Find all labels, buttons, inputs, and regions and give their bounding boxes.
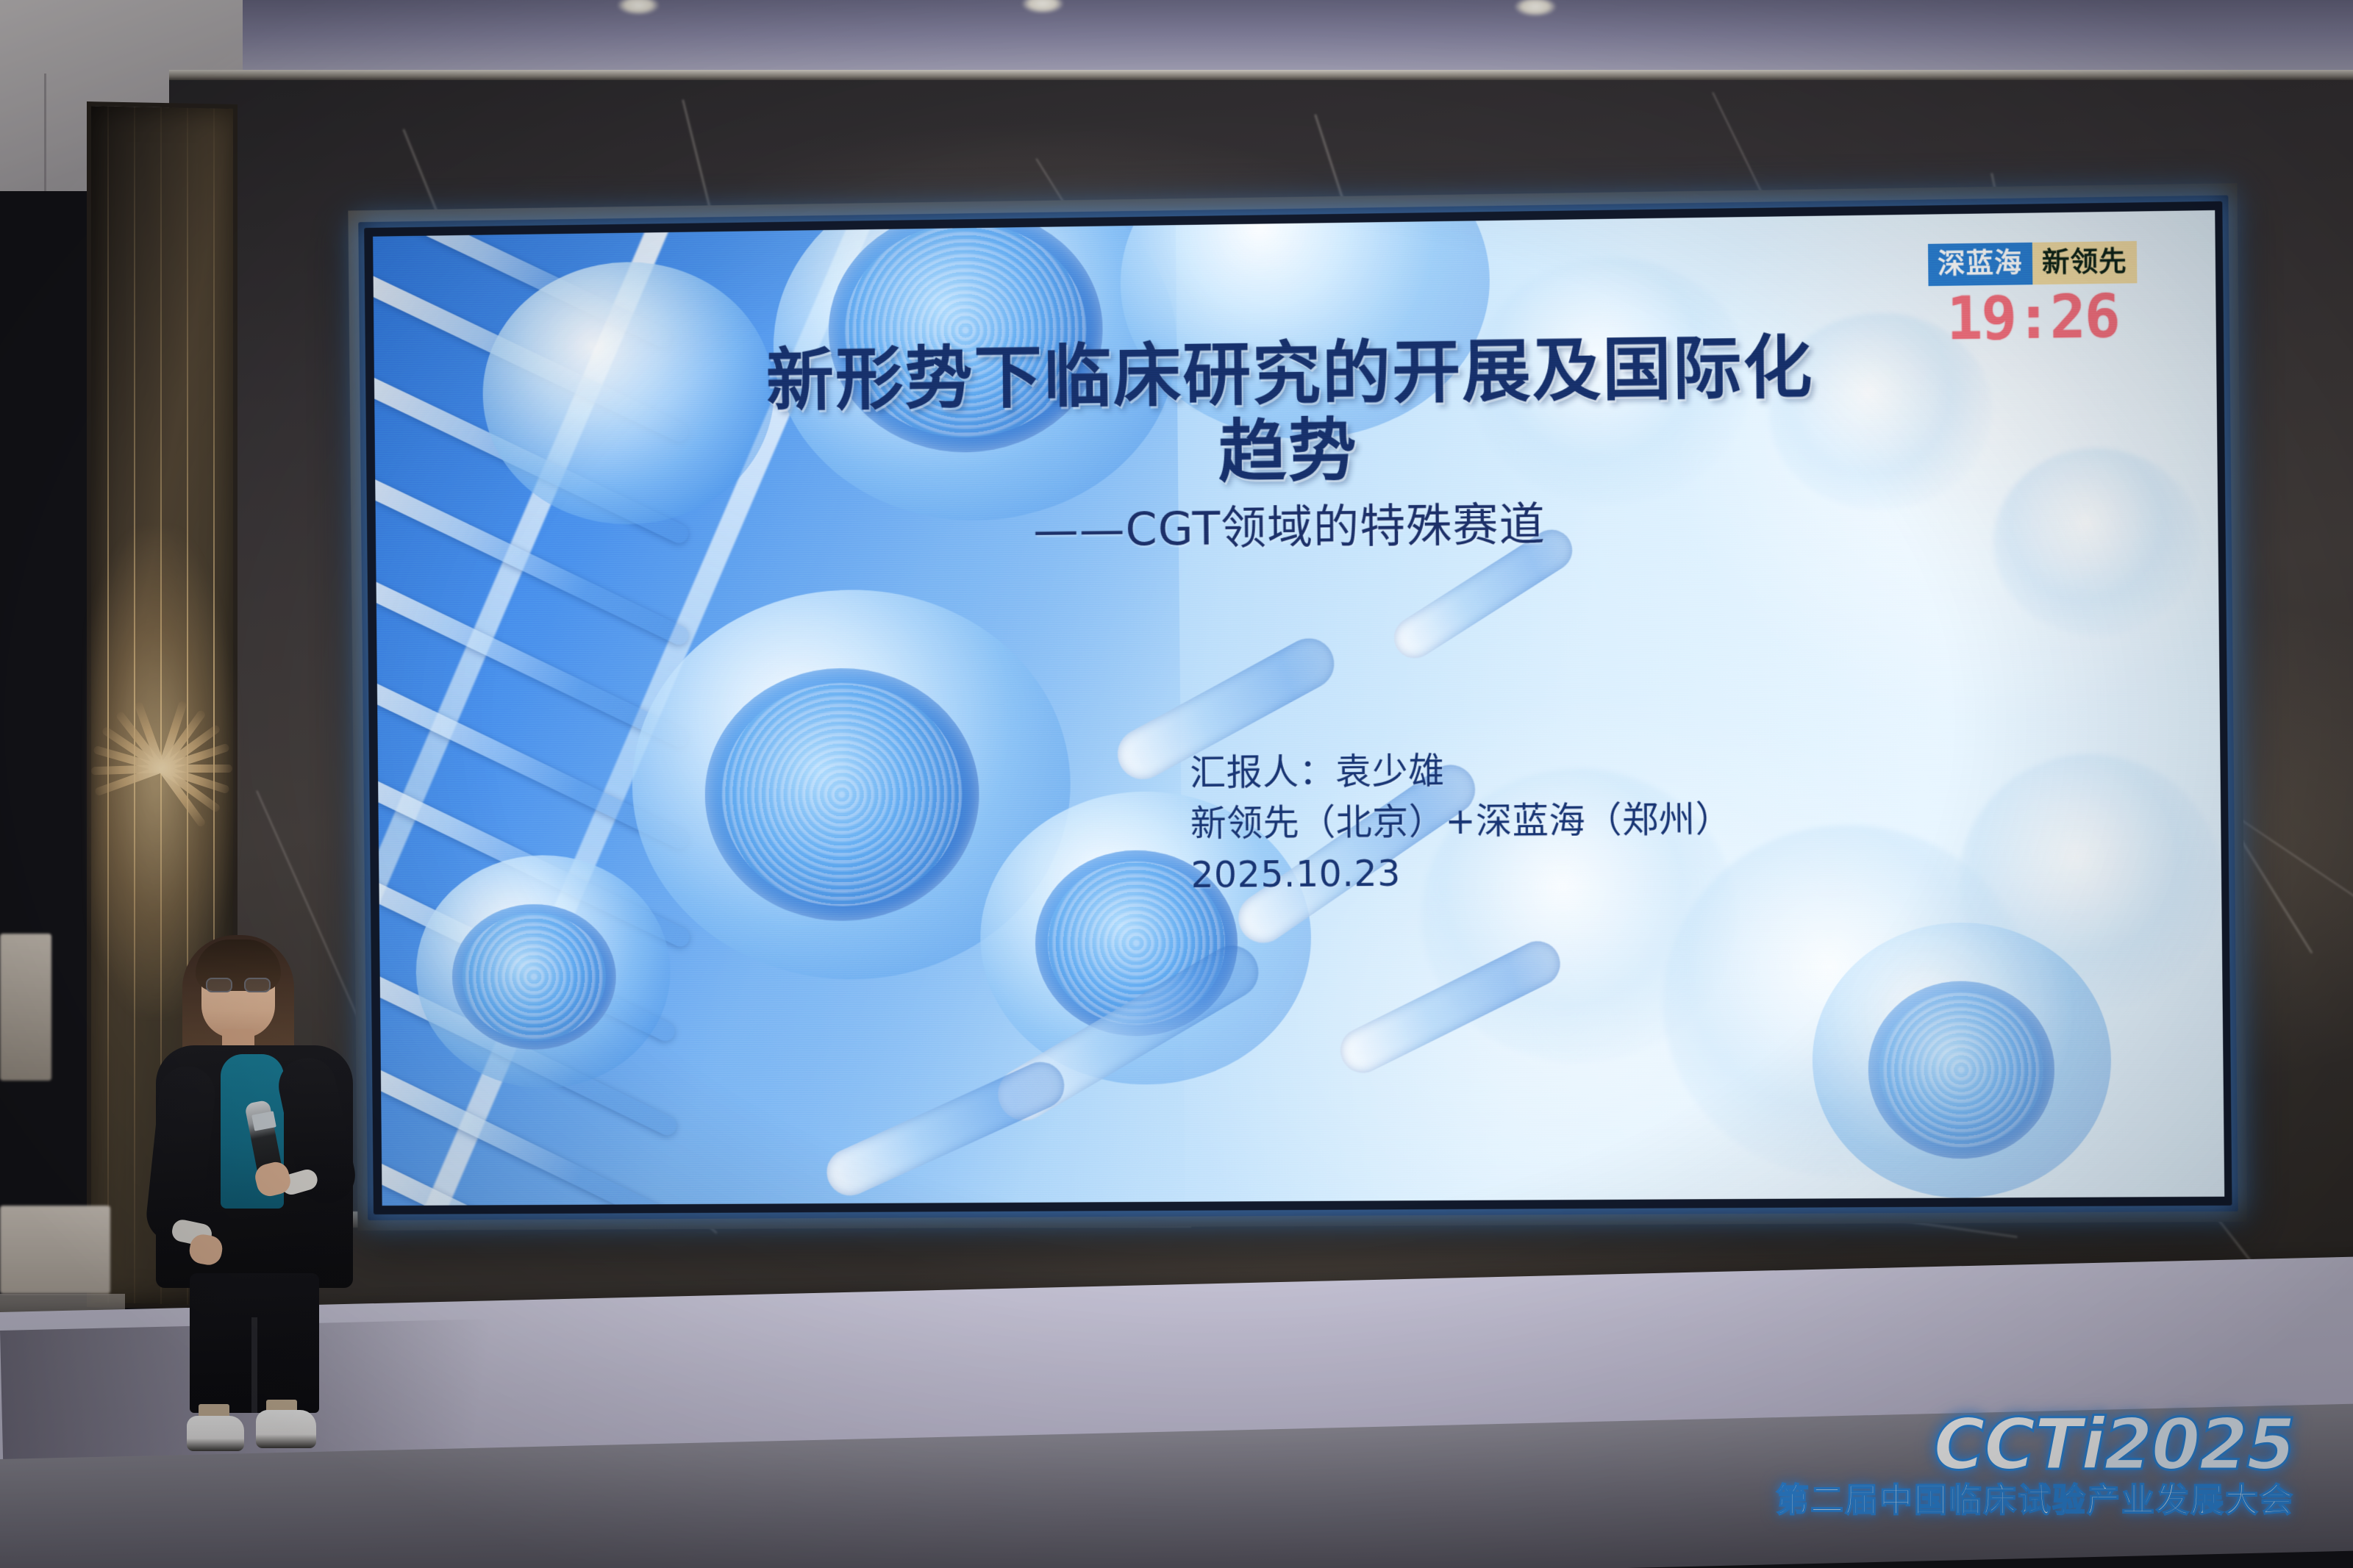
- glasses-icon: [206, 978, 271, 992]
- wall-top-edge: [169, 70, 2353, 80]
- event-logo-watermark: CCTi2025 第二届中国临床试验产业发展大会: [1776, 1410, 2294, 1517]
- badge-xinlingxian: 新领先: [2032, 241, 2138, 284]
- badge-row: 深蓝海 新领先: [1928, 241, 2137, 286]
- slide-subtitle: ——CGT领域的特殊赛道: [376, 490, 2218, 565]
- lobby-furniture: [0, 1206, 110, 1294]
- event-logo-acronym: CCTi: [1934, 1403, 2104, 1486]
- event-logo-chinese-name: 第二届中国临床试验产业发展大会: [1776, 1483, 2294, 1517]
- clock-display: 19:26: [1928, 285, 2138, 350]
- event-logo-year: 2025: [2104, 1403, 2294, 1486]
- ceiling-seam: [44, 74, 46, 191]
- lobby-furniture: [0, 934, 51, 1081]
- presenter-leg-gap: [251, 1317, 257, 1413]
- overlay-badge-group: 深蓝海 新领先 19:26: [1928, 241, 2138, 350]
- presenter-org-line: 新领先（北京）+深蓝海（郑州）: [1190, 794, 1732, 850]
- presentation-slide[interactable]: 新形势下临床研究的开展及国际化 趋势 ——CGT领域的特殊赛道 汇报人：袁少雄 …: [373, 210, 2224, 1206]
- event-logo-main: CCTi2025: [1776, 1410, 2294, 1479]
- presenter-right-shoe: [256, 1410, 316, 1448]
- slide-presenter-block: 汇报人：袁少雄 新领先（北京）+深蓝海（郑州） 2025.10.23: [1190, 742, 1733, 901]
- presenter-name-line: 汇报人：袁少雄: [1190, 742, 1732, 798]
- led-screen[interactable]: 新形势下临床研究的开展及国际化 趋势 ——CGT领域的特殊赛道 汇报人：袁少雄 …: [348, 183, 2247, 1231]
- presenter-left-shoe: [187, 1416, 244, 1451]
- presenter-date-line: 2025.10.23: [1190, 845, 1732, 901]
- conference-stage-photo: 新形势下临床研究的开展及国际化 趋势 ——CGT领域的特殊赛道 汇报人：袁少雄 …: [0, 0, 2353, 1568]
- presenter-figure: [144, 928, 365, 1428]
- slide-title-block: 新形势下临床研究的开展及国际化 趋势 ——CGT领域的特殊赛道: [374, 323, 2218, 565]
- wall-sconce-icon: [94, 559, 234, 970]
- badge-shenlanhai: 深蓝海: [1928, 243, 2032, 286]
